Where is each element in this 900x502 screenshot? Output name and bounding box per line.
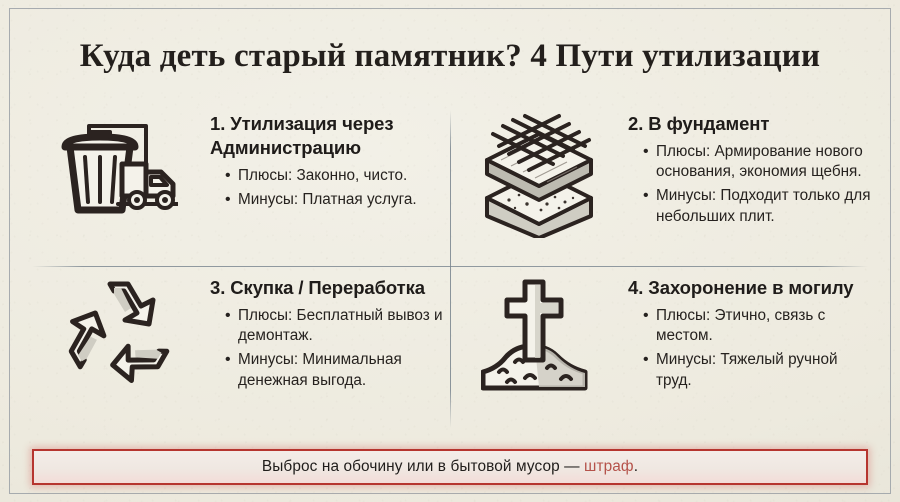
option-card-3: 3. Скупка / Переработка Плюсы: Бесплатны… (28, 268, 450, 430)
recycling-arrows-icon (58, 276, 180, 392)
option-2-icon-area (450, 104, 628, 254)
warning-banner: Выброс на обочину или в бытовой мусор — … (32, 449, 868, 485)
option-1-text: 1. Утилизация через Администрацию Плюсы:… (210, 104, 438, 214)
option-card-1: 1. Утилизация через Администрацию Плюсы:… (28, 104, 450, 266)
option-4-text: 4. Захоронение в могилу Плюсы: Этично, с… (628, 268, 872, 395)
option-2-points: Плюсы: Армирование нового основания, эко… (628, 142, 872, 227)
options-grid: 1. Утилизация через Администрацию Плюсы:… (28, 104, 872, 434)
option-3-icon-area (28, 268, 210, 418)
option-4-points: Плюсы: Этично, связь с местом. Минусы: Т… (628, 306, 872, 391)
grave-with-cross-icon (481, 276, 597, 398)
option-2-heading: 2. В фундамент (628, 112, 872, 136)
list-item: Плюсы: Армирование нового основания, эко… (643, 142, 872, 182)
infographic-poster: Куда деть старый памятник? 4 Пути утилиз… (0, 0, 900, 502)
horizontal-divider (32, 266, 868, 267)
reinforced-concrete-foundation-icon (481, 112, 597, 238)
option-3-heading: 3. Скупка / Переработка (210, 276, 450, 300)
list-item: Минусы: Платная услуга. (225, 190, 438, 210)
list-item: Минусы: Минимальная денежная выгода. (225, 350, 450, 390)
option-1-heading: 1. Утилизация через Администрацию (210, 112, 438, 160)
list-item: Плюсы: Бесплатный вывоз и демонтаж. (225, 306, 450, 346)
warning-banner-text: Выброс на обочину или в бытовой мусор — … (262, 458, 638, 476)
option-2-text: 2. В фундамент Плюсы: Армирование нового… (628, 104, 872, 231)
list-item: Минусы: Подходит только для небольших пл… (643, 186, 872, 226)
option-3-points: Плюсы: Бесплатный вывоз и демонтаж. Мину… (210, 306, 450, 391)
option-4-icon-area (450, 268, 628, 418)
list-item: Плюсы: Этично, связь с местом. (643, 306, 872, 346)
option-3-text: 3. Скупка / Переработка Плюсы: Бесплатны… (210, 268, 450, 395)
option-1-points: Плюсы: Законно, чисто. Минусы: Платная у… (210, 166, 438, 210)
warning-text-after: . (634, 458, 638, 475)
list-item: Плюсы: Законно, чисто. (225, 166, 438, 186)
option-card-4: 4. Захоронение в могилу Плюсы: Этично, с… (450, 268, 872, 430)
option-1-icon-area (28, 104, 210, 254)
warning-highlight: штраф (584, 458, 634, 475)
option-card-2: 2. В фундамент Плюсы: Армирование нового… (450, 104, 872, 266)
option-4-heading: 4. Захоронение в могилу (628, 276, 872, 300)
warning-text-before: Выброс на обочину или в бытовой мусор — (262, 458, 584, 475)
list-item: Минусы: Тяжелый ручной труд. (643, 350, 872, 390)
page-title: Куда деть старый памятник? 4 Пути утилиз… (0, 38, 900, 75)
trash-bin-and-garbage-truck-icon (60, 112, 178, 216)
